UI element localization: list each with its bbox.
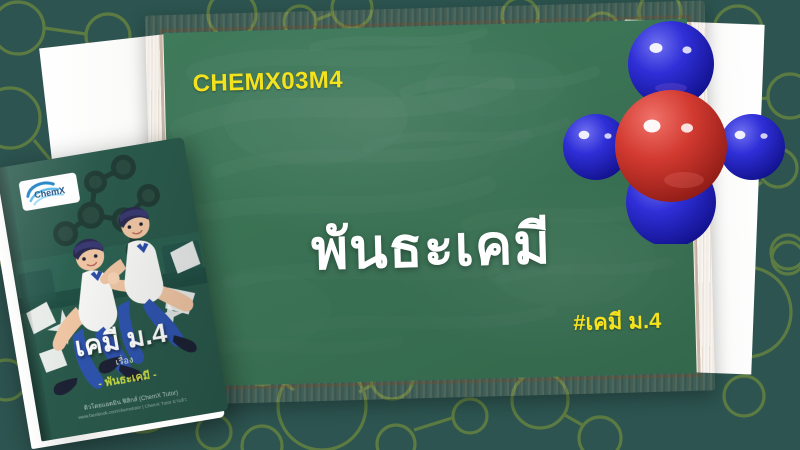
- course-code-label: CHEMX03M4: [192, 66, 343, 98]
- book-front-cover: ChemX เคมี ม.4 เรื่อง - พันธะเคมี - ติวโ…: [0, 137, 229, 442]
- hashtag-label: #เคมี ม.4: [573, 303, 662, 340]
- molecule-center-atom: [615, 90, 727, 202]
- molecule-3d-icon: [556, 14, 786, 244]
- thumbnail-canvas: CHEMX03M4 พันธะเคมี #เคมี ม.4: [0, 0, 800, 450]
